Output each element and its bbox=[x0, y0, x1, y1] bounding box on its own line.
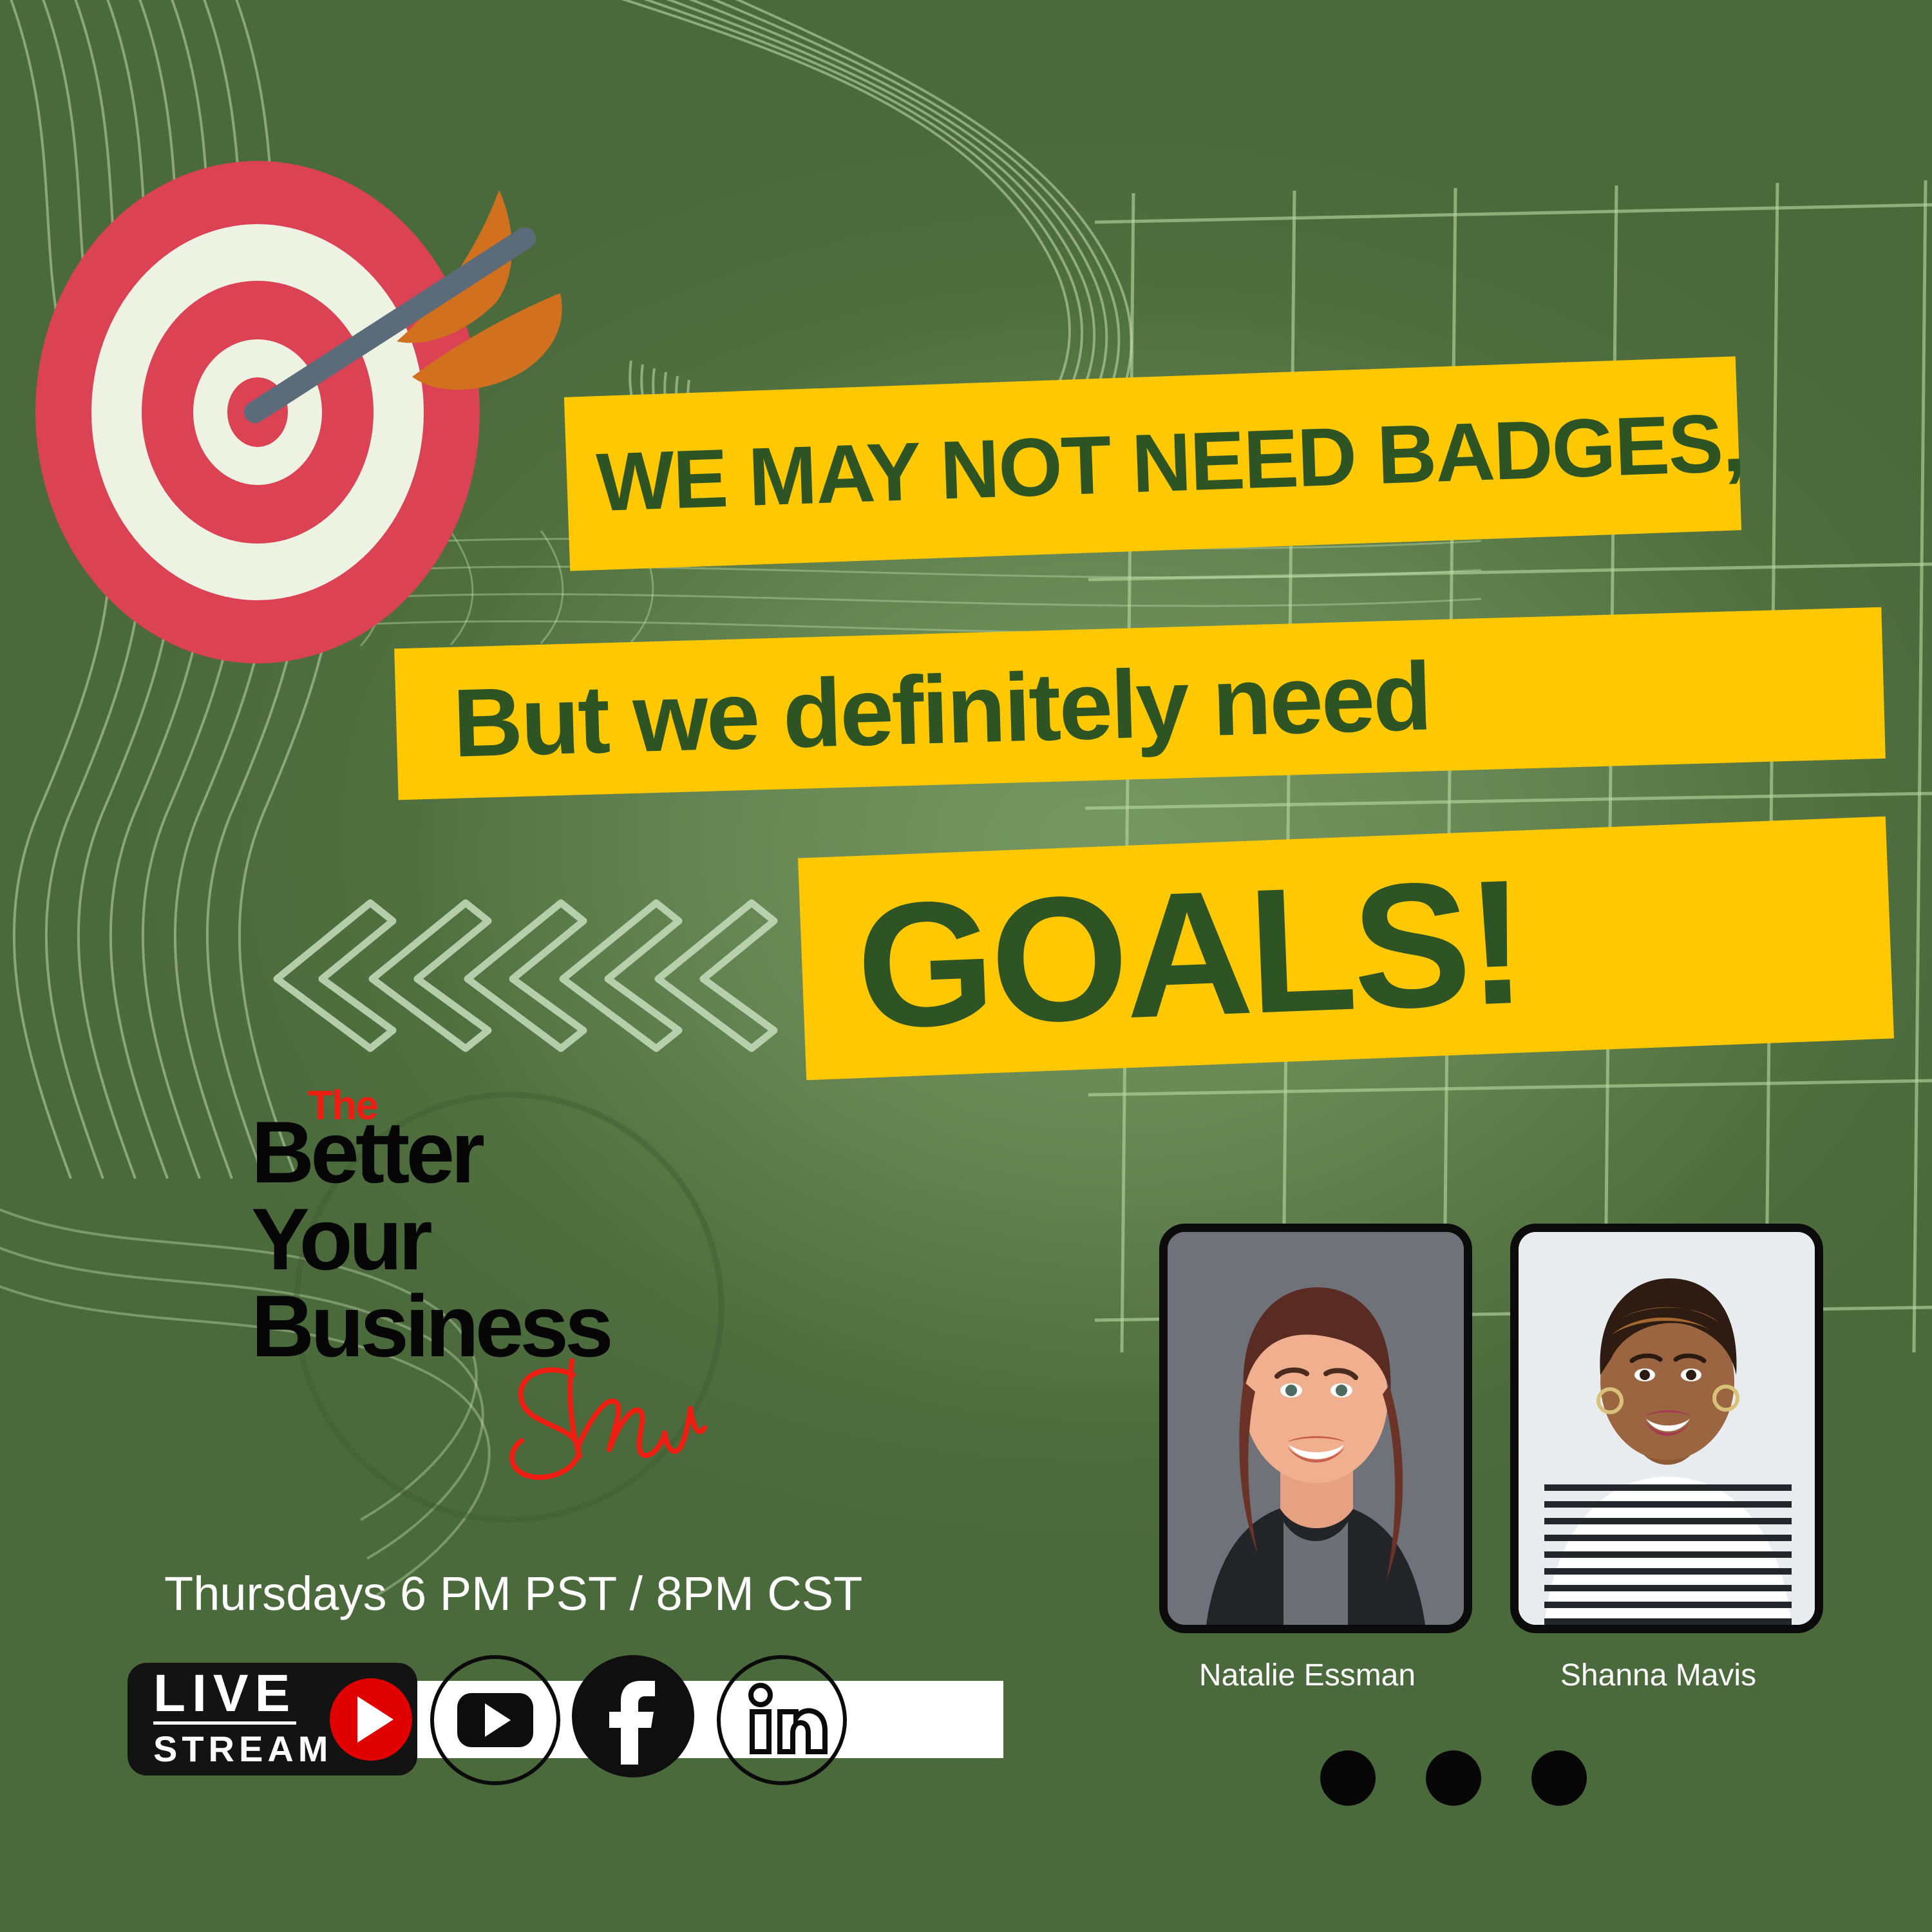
headline-banner-1: WE MAY NOT NEED BADGES, bbox=[564, 356, 1741, 571]
linkedin-in-glyph bbox=[734, 1672, 830, 1768]
speaker-photo-shanna bbox=[1510, 1224, 1823, 1633]
speaker-photo-natalie bbox=[1159, 1224, 1472, 1633]
headline-line-2: But we definitely need bbox=[395, 647, 1431, 773]
three-dots-decoration bbox=[1320, 1750, 1587, 1806]
youtube-icon[interactable] bbox=[430, 1655, 560, 1785]
linkedin-icon[interactable] bbox=[717, 1655, 847, 1785]
chevron-left-icon bbox=[277, 903, 774, 1048]
headline-banner-2: But we definitely need bbox=[394, 607, 1886, 800]
live-stream-label: LIVE STREAM bbox=[128, 1669, 343, 1770]
speaker-name-1: Natalie Essman bbox=[1159, 1658, 1455, 1693]
stream-label: STREAM bbox=[153, 1725, 343, 1770]
promo-graphic-canvas: WE MAY NOT NEED BADGES, But we definitel… bbox=[0, 0, 1932, 1932]
live-label: LIVE bbox=[153, 1669, 296, 1725]
youtube-play-glyph bbox=[457, 1693, 533, 1747]
dot-3 bbox=[1531, 1750, 1587, 1806]
logo-show-script-icon bbox=[496, 1349, 708, 1497]
target-with-arrow-icon bbox=[26, 155, 580, 670]
logo-line-your: Your bbox=[251, 1201, 429, 1278]
speaker-name-2: Shanna Mavis bbox=[1510, 1658, 1806, 1693]
logo-line-better: Better bbox=[251, 1114, 481, 1191]
facebook-f-glyph bbox=[585, 1668, 681, 1765]
dot-1 bbox=[1320, 1750, 1376, 1806]
play-triangle-icon bbox=[330, 1678, 412, 1761]
social-bar: LIVE STREAM bbox=[128, 1655, 1042, 1810]
schedule-text: Thursdays 6 PM PST / 8PM CST bbox=[164, 1566, 862, 1621]
speaker-card-2: Shanna Mavis bbox=[1510, 1224, 1806, 1693]
speaker-card-1: Natalie Essman bbox=[1159, 1224, 1455, 1693]
headline-line-3: GOALS! bbox=[799, 853, 1525, 1058]
live-stream-badge[interactable]: LIVE STREAM bbox=[128, 1663, 417, 1776]
headline-banner-3: GOALS! bbox=[798, 817, 1894, 1081]
dot-2 bbox=[1426, 1750, 1481, 1806]
headline-line-1: WE MAY NOT NEED BADGES, bbox=[565, 402, 1745, 526]
facebook-icon[interactable] bbox=[572, 1655, 694, 1777]
show-logo: The Better Your Business bbox=[225, 1088, 715, 1501]
